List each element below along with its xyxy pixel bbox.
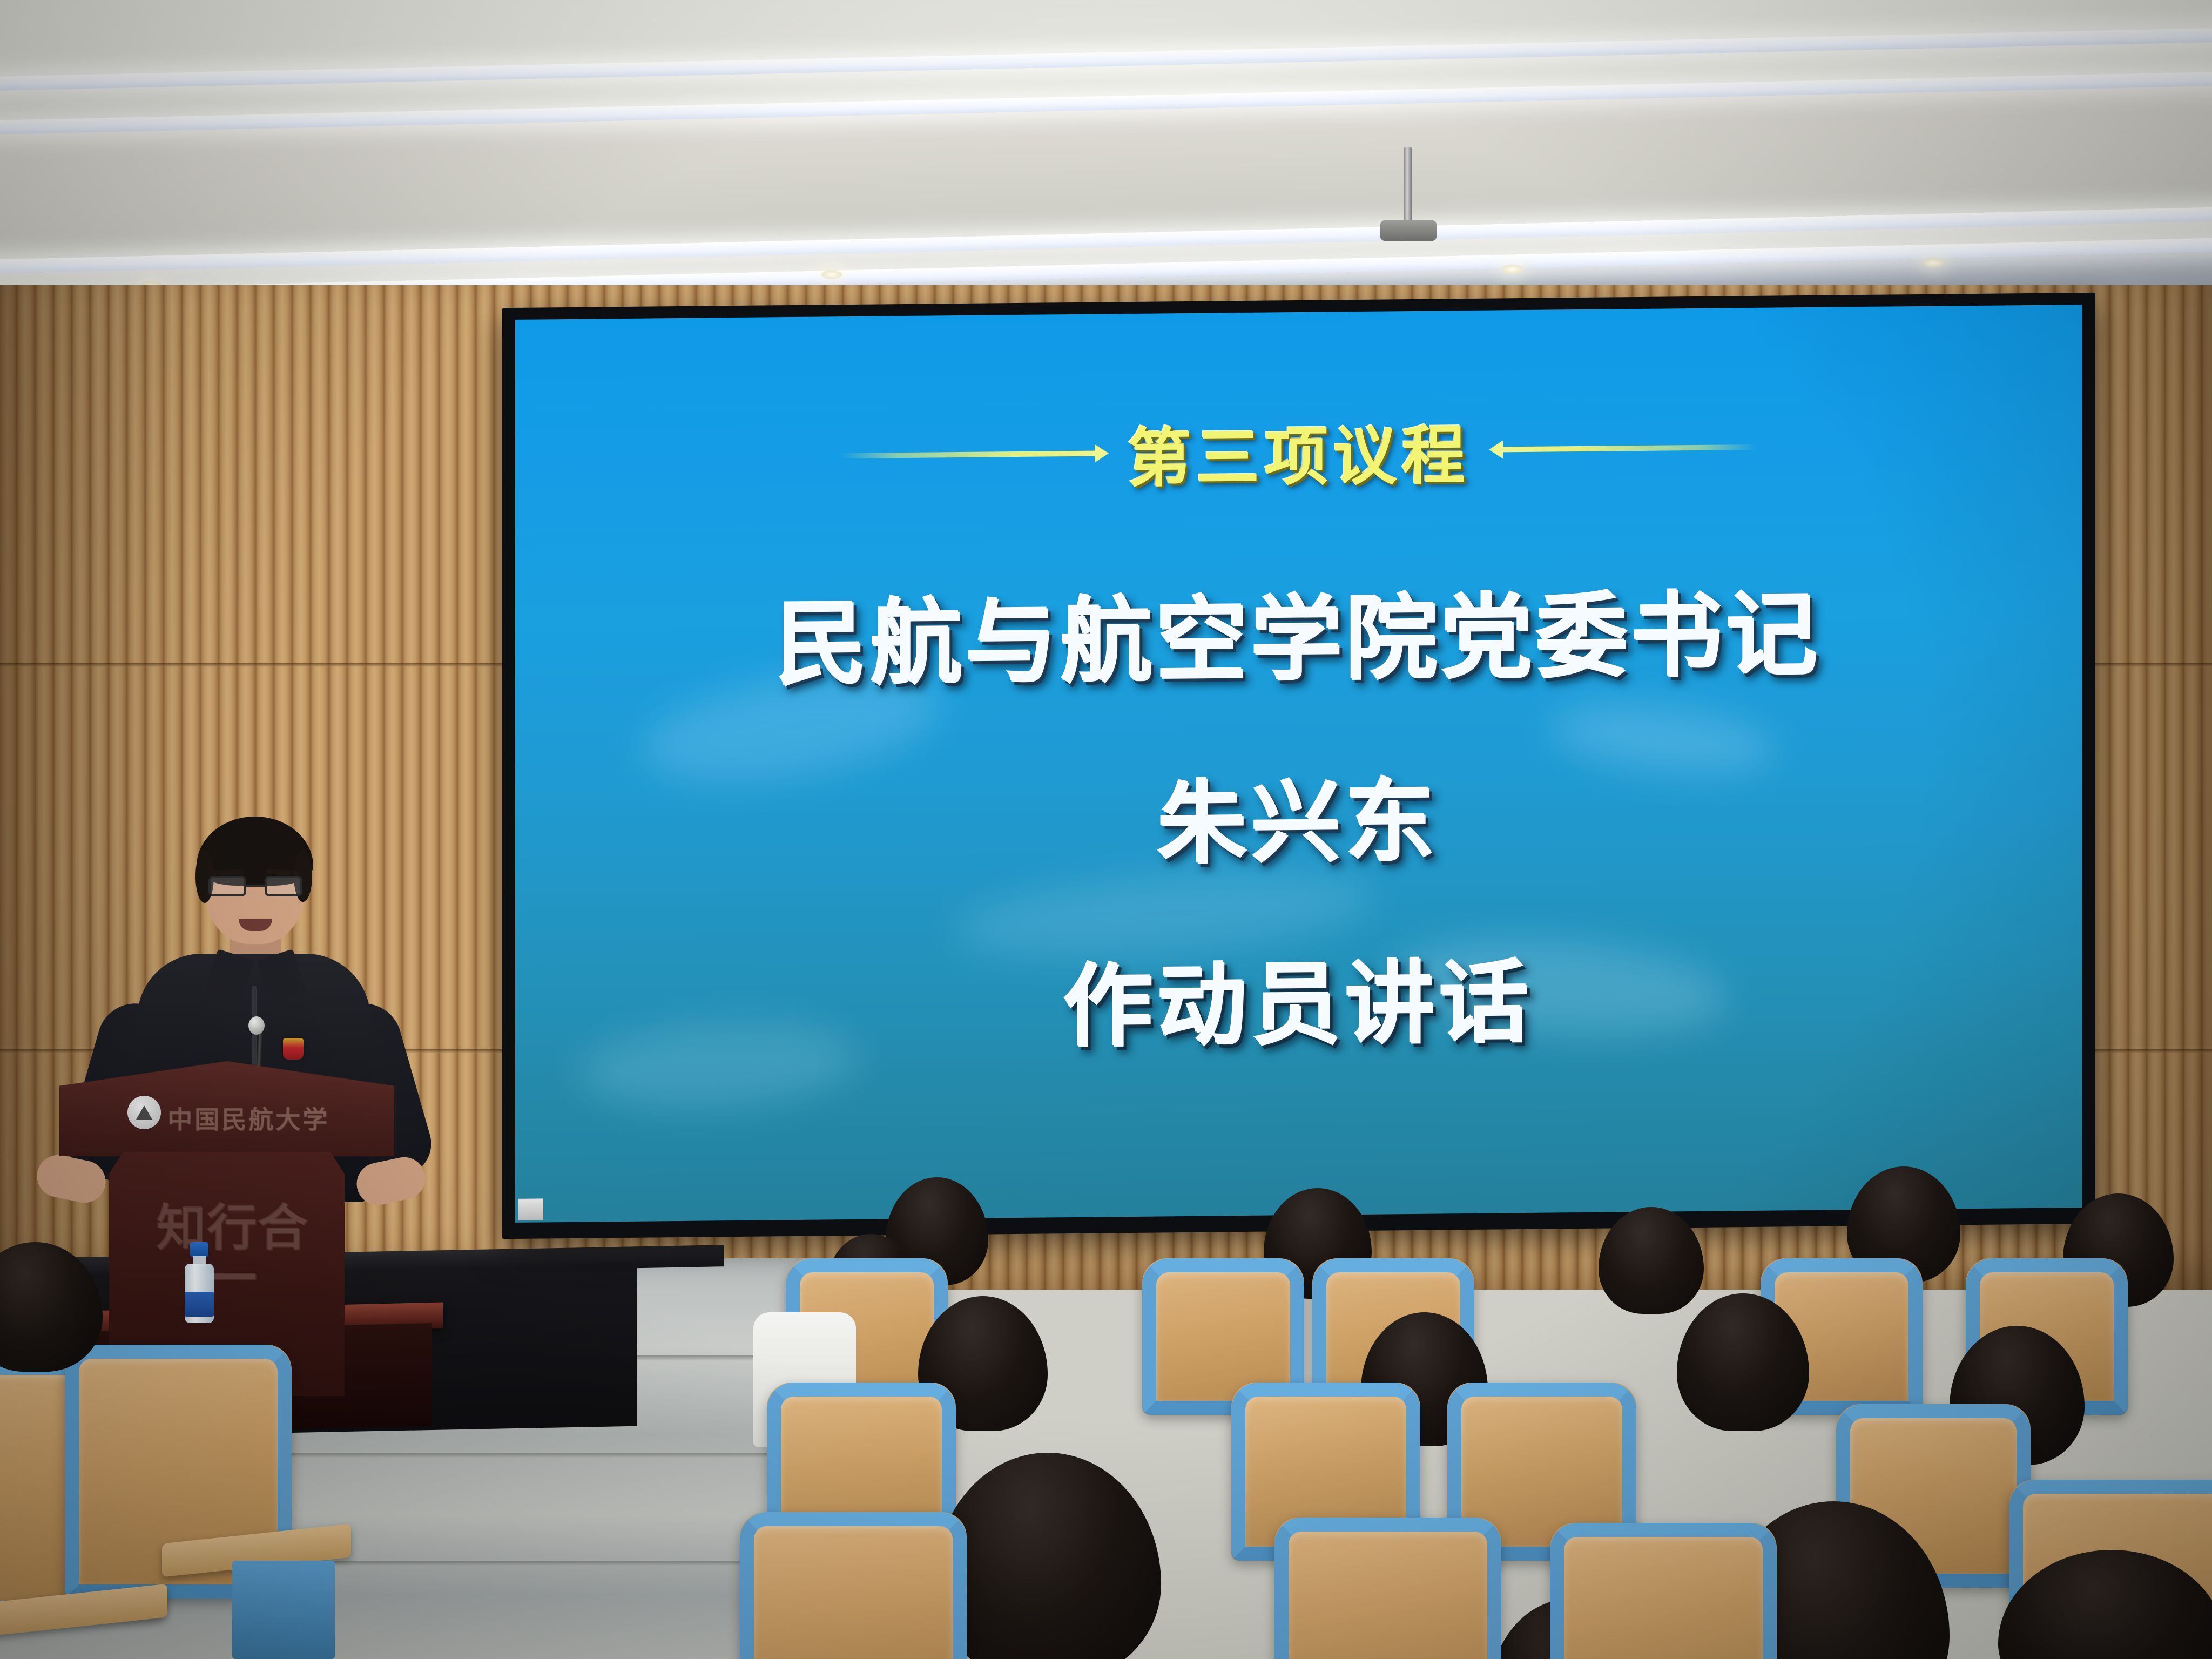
slide-body-line-1: 民航与航空学院党委书记 [776, 561, 1822, 704]
seat-armrest-post [232, 1561, 335, 1659]
slide-header-title: 第三项议程 [1109, 403, 1488, 500]
microphone-head [248, 1016, 265, 1035]
auditorium-seat-icon [740, 1512, 967, 1659]
downlight-icon [821, 270, 842, 279]
bottle-label [185, 1292, 214, 1317]
seat-cushion [740, 1512, 967, 1659]
slide-header-row: 第三项议程 [515, 397, 2082, 505]
downlight-icon [1923, 258, 1944, 267]
projection-screen-frame: 第三项议程 民航与航空学院党委书记 朱兴东 作动员讲话 [502, 293, 2095, 1239]
auditorium-seat-icon [1274, 1518, 1501, 1659]
slide-content: 第三项议程 民航与航空学院党委书记 朱兴东 作动员讲话 [515, 305, 2082, 1223]
triangle-emblem-icon [127, 1096, 161, 1129]
ceiling [0, 0, 2212, 302]
party-emblem-pin-icon [283, 1038, 304, 1060]
auditorium-scene: 第三项议程 民航与航空学院党委书记 朱兴东 作动员讲话 [0, 0, 2212, 1659]
podium-institution-name: 中国民航大学 [167, 1100, 329, 1136]
arrow-left-icon [1489, 440, 1503, 458]
glasses-lens [208, 876, 246, 896]
auditorium-seat-icon [1550, 1523, 1777, 1659]
header-rule-left [841, 450, 1095, 458]
glasses-bridge [246, 885, 266, 887]
downlight-icon [1501, 265, 1523, 274]
slide-body-line-3: 作动员讲话 [1064, 930, 1534, 1064]
water-bottle-icon [184, 1242, 215, 1323]
header-rule-right [1503, 444, 1757, 452]
arrow-right-icon [1095, 444, 1109, 462]
audience-head [934, 1453, 1161, 1659]
projection-screen: 第三项议程 民航与航空学院党委书记 朱兴东 作动员讲话 [515, 305, 2082, 1223]
podium-sub-text: 知行合一 [151, 1203, 313, 1304]
slide-body-line-2: 朱兴东 [1158, 748, 1440, 881]
screen-corner-tab [518, 1198, 543, 1220]
seat-cushion [1274, 1518, 1501, 1659]
glasses-icon [208, 876, 302, 898]
bottle-cap [190, 1242, 208, 1257]
projector-mount-head [1380, 220, 1437, 241]
glasses-lens [265, 876, 302, 896]
projector-mount-icon [1404, 147, 1412, 228]
seat-cushion [1550, 1523, 1777, 1659]
